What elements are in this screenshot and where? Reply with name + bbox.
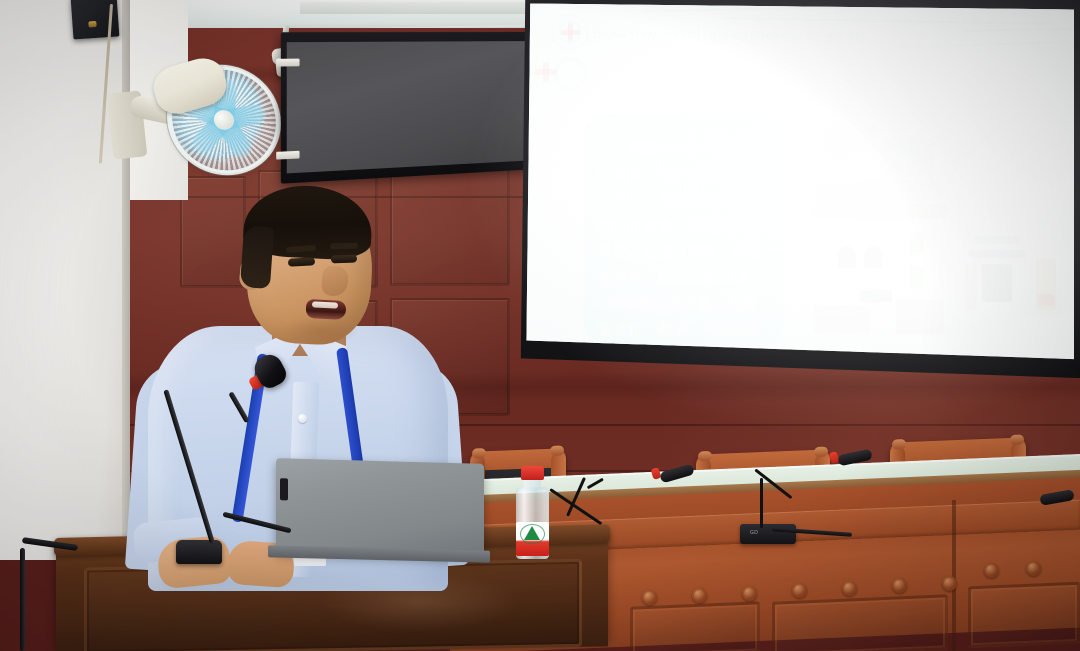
mic-base-label: GD (750, 530, 758, 536)
slide-photo-1 (810, 120, 948, 220)
slide-photo-3 (960, 232, 1062, 318)
chin-shadow (282, 316, 358, 346)
wall-acoustic-panel (281, 32, 538, 184)
slide-photo-2 (810, 222, 948, 336)
bottle-neck (524, 479, 541, 489)
slide-text-box: 配置有中医特色的诊疗设备：红外偏振光疼痛治疗仪、激光治疗仪、微波治疗设备、红外热… (584, 114, 784, 346)
laptop-port (280, 478, 288, 500)
hair-sideburn (240, 225, 274, 289)
cross-horizontal (535, 69, 557, 75)
pine-tree-icon (524, 526, 540, 540)
wall-fan-icon (108, 44, 288, 184)
lectern-cable (20, 548, 25, 651)
laptop[interactable] (276, 458, 484, 558)
panel-tab (276, 59, 299, 67)
eyebrow-right (330, 243, 358, 250)
screen-face: ZHONG YI YAO DA XUE FU SHU YI YUAN 全国中医药… (522, 2, 1074, 374)
podium-microphone-base (176, 540, 222, 564)
banner-org-text-right: 全国中医药传承创新中心建设项目 (708, 30, 866, 45)
table-front-panel (772, 594, 948, 651)
table-seam (952, 500, 956, 651)
panel-face (287, 41, 533, 173)
slide-body-text: 配置有中医特色的诊疗设备：红外偏振光疼痛治疗仪、激光治疗仪、微波治疗设备、红外热… (584, 114, 784, 370)
table-front-panel (630, 601, 760, 651)
eye-left (288, 257, 315, 266)
medical-cross-logo (548, 10, 592, 54)
speaker-knob (88, 21, 96, 28)
eye-right (331, 255, 357, 264)
shirt-button (298, 414, 307, 423)
teeth (312, 301, 338, 308)
bottle-cap (521, 466, 544, 480)
conference-room-photo: ZHONG YI YAO DA XUE FU SHU YI YUAN 全国中医药… (0, 0, 1080, 651)
ceiling-vent (300, 2, 550, 14)
water-bottle[interactable] (512, 466, 552, 562)
table-front-panel (968, 582, 1080, 649)
slide-banner: ZHONG YI YAO DA XUE FU SHU YI YUAN 全国中医药… (522, 2, 1074, 74)
projection-screen: ZHONG YI YAO DA XUE FU SHU YI YUAN 全国中医药… (514, 0, 1080, 390)
panel-tab (276, 151, 299, 160)
